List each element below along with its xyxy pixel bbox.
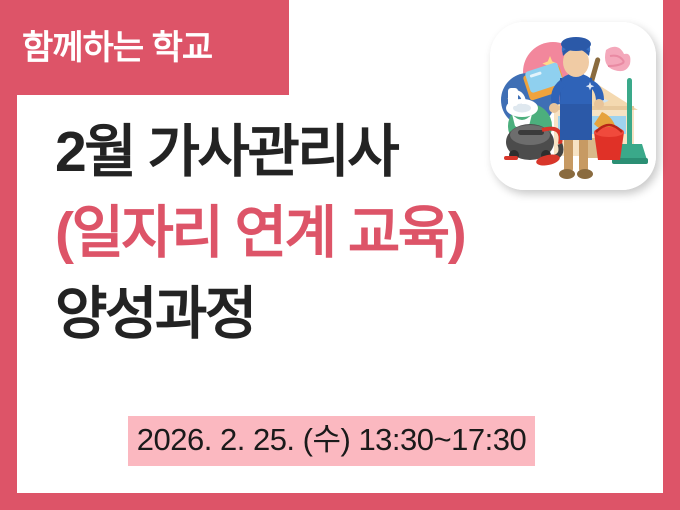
title-line-3: 양성과정 bbox=[55, 274, 575, 355]
title-line-2: (일자리 연계 교육) bbox=[55, 193, 575, 274]
header-banner-label: 함께하는 학교 bbox=[22, 31, 212, 65]
header-banner: 함께하는 학교 bbox=[0, 0, 289, 95]
bucket-shape bbox=[594, 125, 624, 160]
housekeeping-worker-illustration bbox=[490, 22, 656, 190]
illustration-svg bbox=[490, 22, 656, 190]
poster-root: 함께하는 학교 2월 가사관리사 (일자리 연계 교육) 양성과정 2026. … bbox=[0, 0, 680, 510]
date-row: 2026. 2. 25. (수) 13:30~17:30 bbox=[0, 416, 663, 466]
event-date-badge: 2026. 2. 25. (수) 13:30~17:30 bbox=[128, 416, 535, 466]
